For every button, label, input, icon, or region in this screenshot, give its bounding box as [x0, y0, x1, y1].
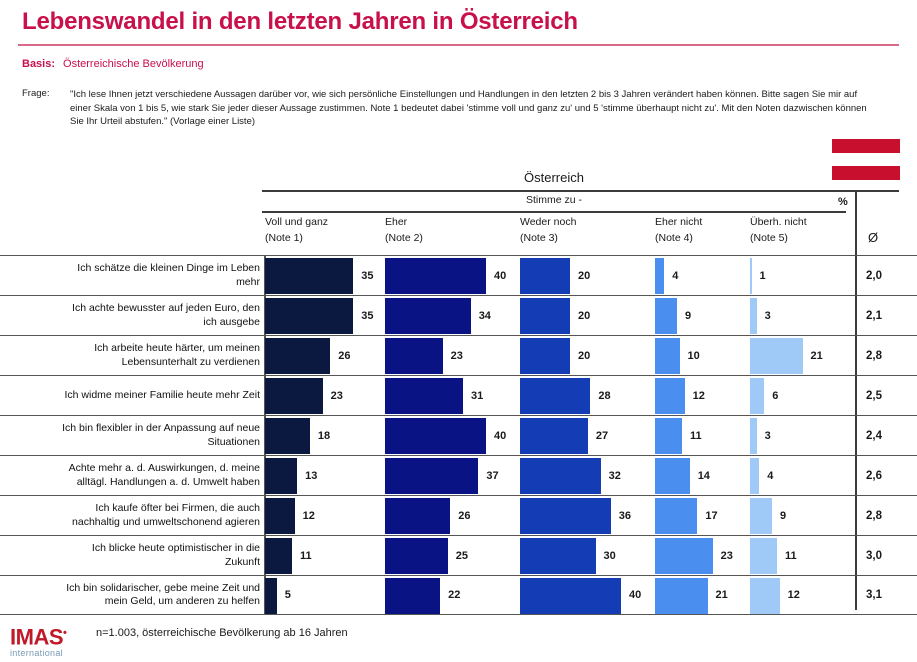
- bar-value-3: 36: [619, 510, 631, 522]
- bar-value-1: 35: [361, 270, 373, 282]
- bar-value-2: 26: [458, 510, 470, 522]
- imas-logo-sub: international: [10, 648, 66, 658]
- bar-segment-3: [520, 458, 602, 494]
- row-label-line: mehr: [236, 276, 260, 290]
- average-value: 2,0: [866, 270, 882, 282]
- bar-value-4: 4: [672, 270, 678, 282]
- bar-segment-2: [385, 338, 444, 374]
- bar-segment-3: [520, 338, 571, 374]
- average-value: 2,1: [866, 310, 882, 322]
- column-header-name: Überh. nicht: [750, 216, 807, 228]
- bar-value-3: 28: [598, 390, 610, 402]
- bar-value-4: 12: [693, 390, 705, 402]
- country-label: Österreich: [262, 170, 846, 185]
- bar-value-5: 4: [767, 470, 773, 482]
- bar-value-1: 11: [300, 550, 312, 562]
- header-rule-mid: [262, 211, 846, 213]
- average-value: 2,4: [866, 430, 882, 442]
- row-label-line: nachhaltig und umweltschonend agieren: [72, 516, 260, 530]
- chart-row: Ich achte bewusster auf jeden Euro, deni…: [0, 295, 917, 335]
- row-label: Ich blicke heute optimistischer in dieZu…: [18, 536, 264, 575]
- average-value: 3,0: [866, 550, 882, 562]
- bar-value-5: 1: [760, 270, 766, 282]
- row-label-line: mein Geld, um anderen zu helfen: [105, 595, 260, 609]
- bar-value-5: 3: [765, 430, 771, 442]
- bar-segment-1: [265, 258, 354, 294]
- chart-row: Ich schätze die kleinen Dinge im Lebenme…: [0, 255, 917, 295]
- bar-value-2: 40: [494, 270, 506, 282]
- title-divider: [18, 44, 899, 46]
- row-label-line: Ich arbeite heute härter, um meinen: [94, 342, 260, 356]
- scale-label: Stimme zu -: [262, 194, 846, 206]
- bar-segment-1: [265, 578, 278, 614]
- average-value: 3,1: [866, 589, 882, 601]
- row-label-line: Achte mehr a. d. Auswirkungen, d. meine: [69, 462, 260, 476]
- bar-segment-1: [265, 338, 331, 374]
- bar-value-4: 17: [705, 510, 717, 522]
- bar-value-3: 30: [604, 550, 616, 562]
- row-label-line: alltägl. Handlungen a. d. Umwelt haben: [77, 476, 260, 490]
- basis-row: Basis:Österreichische Bevölkerung: [22, 58, 204, 70]
- row-label: Ich arbeite heute härter, um meinenLeben…: [18, 336, 264, 375]
- bar-value-4: 23: [721, 550, 733, 562]
- bar-segment-1: [265, 298, 354, 334]
- column-header-note: (Note 4): [655, 230, 702, 246]
- bar-value-5: 21: [811, 350, 823, 362]
- row-label: Achte mehr a. d. Auswirkungen, d. meinea…: [18, 456, 264, 495]
- column-header-1: Voll und ganz(Note 1): [265, 214, 328, 246]
- bar-value-4: 21: [716, 589, 728, 601]
- column-header-note: (Note 1): [265, 230, 328, 246]
- header-rule-top: [262, 190, 899, 192]
- bar-segment-4: [655, 338, 681, 374]
- bar-segment-5: [750, 498, 773, 534]
- bar-segment-5: [750, 578, 781, 614]
- bar-value-1: 12: [303, 510, 315, 522]
- bar-value-5: 9: [780, 510, 786, 522]
- row-label: Ich kaufe öfter bei Firmen, die auchnach…: [18, 496, 264, 535]
- bar-segment-3: [520, 498, 612, 534]
- slide-canvas: Lebenswandel in den letzten Jahren in Ös…: [0, 0, 917, 662]
- bar-segment-4: [655, 298, 678, 334]
- bar-segment-3: [520, 378, 591, 414]
- chart-row: Achte mehr a. d. Auswirkungen, d. meinea…: [0, 455, 917, 495]
- bar-segment-5: [750, 378, 765, 414]
- question-label: Frage:: [22, 88, 49, 99]
- bar-segment-2: [385, 298, 472, 334]
- bar-segment-2: [385, 498, 451, 534]
- bar-value-3: 20: [578, 350, 590, 362]
- row-label: Ich widme meiner Familie heute mehr Zeit: [18, 376, 264, 415]
- bar-segment-5: [750, 338, 804, 374]
- bar-segment-4: [655, 578, 709, 614]
- column-header-name: Eher: [385, 216, 407, 228]
- column-header-3: Weder noch(Note 3): [520, 214, 576, 246]
- bar-segment-4: [655, 498, 698, 534]
- bar-segment-5: [750, 258, 753, 294]
- bar-segment-1: [265, 498, 296, 534]
- sample-note: n=1.003, österreichische Bevölkerung ab …: [96, 627, 348, 639]
- bar-segment-2: [385, 258, 487, 294]
- bar-segment-4: [655, 538, 714, 574]
- imas-logo-text: IMAS•: [10, 622, 66, 648]
- row-label: Ich bin solidarischer, gebe meine Zeit u…: [18, 576, 264, 614]
- bar-value-5: 3: [765, 310, 771, 322]
- column-header-5: Überh. nicht(Note 5): [750, 214, 807, 246]
- row-label-line: Ich bin flexibler in der Anpassung auf n…: [62, 422, 260, 436]
- bar-segment-4: [655, 378, 686, 414]
- column-header-note: (Note 5): [750, 230, 807, 246]
- bar-segment-4: [655, 418, 683, 454]
- chart-row: Ich bin flexibler in der Anpassung auf n…: [0, 415, 917, 455]
- bar-segment-2: [385, 378, 464, 414]
- column-header-note: (Note 3): [520, 230, 576, 246]
- bar-segment-5: [750, 298, 758, 334]
- bar-value-1: 35: [361, 310, 373, 322]
- bar-segment-2: [385, 418, 487, 454]
- column-header-note: (Note 2): [385, 230, 423, 246]
- bar-segment-3: [520, 298, 571, 334]
- bar-value-4: 9: [685, 310, 691, 322]
- bar-value-4: 11: [690, 430, 702, 442]
- bar-segment-3: [520, 538, 597, 574]
- bar-value-2: 25: [456, 550, 468, 562]
- bar-value-1: 13: [305, 470, 317, 482]
- bar-value-2: 31: [471, 390, 483, 402]
- bar-value-2: 23: [451, 350, 463, 362]
- bar-value-3: 40: [629, 589, 641, 601]
- bar-value-2: 37: [486, 470, 498, 482]
- average-value: 2,6: [866, 470, 882, 482]
- chart-row: Ich arbeite heute härter, um meinenLeben…: [0, 335, 917, 375]
- bar-segment-5: [750, 538, 778, 574]
- bar-segment-5: [750, 458, 760, 494]
- chart-row: Ich blicke heute optimistischer in dieZu…: [0, 535, 917, 575]
- bar-value-3: 27: [596, 430, 608, 442]
- column-header-name: Weder noch: [520, 216, 576, 228]
- basis-value: Österreichische Bevölkerung: [63, 58, 204, 70]
- percent-sign: %: [838, 196, 848, 208]
- bar-value-1: 5: [285, 589, 291, 601]
- row-label-line: Ich achte bewusster auf jeden Euro, den: [72, 302, 260, 316]
- row-label: Ich achte bewusster auf jeden Euro, deni…: [18, 296, 264, 335]
- bar-segment-1: [265, 378, 324, 414]
- bar-value-2: 40: [494, 430, 506, 442]
- row-label-line: Ich widme meiner Familie heute mehr Zeit: [65, 389, 261, 403]
- row-label-line: ich ausgebe: [203, 316, 260, 330]
- row-label-line: Ich kaufe öfter bei Firmen, die auch: [95, 502, 260, 516]
- bar-segment-4: [655, 258, 665, 294]
- row-label-line: Ich bin solidarischer, gebe meine Zeit u…: [66, 582, 260, 596]
- bar-segment-1: [265, 458, 298, 494]
- bar-value-5: 12: [788, 589, 800, 601]
- row-label: Ich bin flexibler in der Anpassung auf n…: [18, 416, 264, 455]
- bar-value-3: 20: [578, 310, 590, 322]
- row-label-line: Zukunft: [225, 556, 260, 570]
- column-header-name: Eher nicht: [655, 216, 702, 228]
- bar-segment-2: [385, 538, 449, 574]
- bar-segment-1: [265, 418, 311, 454]
- bar-segment-2: [385, 458, 479, 494]
- column-header-4: Eher nicht(Note 4): [655, 214, 702, 246]
- basis-label: Basis:: [22, 58, 55, 70]
- row-label-line: Ich schätze die kleinen Dinge im Leben: [77, 262, 260, 276]
- bar-value-2: 34: [479, 310, 491, 322]
- bar-value-1: 26: [338, 350, 350, 362]
- bar-value-4: 14: [698, 470, 710, 482]
- column-header-2: Eher(Note 2): [385, 214, 423, 246]
- chart-row: Ich widme meiner Familie heute mehr Zeit…: [0, 375, 917, 415]
- bar-segment-3: [520, 418, 589, 454]
- chart-rows: Ich schätze die kleinen Dinge im Lebenme…: [0, 255, 917, 615]
- imas-logo: IMAS• international: [10, 622, 66, 658]
- bar-value-1: 23: [331, 390, 343, 402]
- bar-value-4: 10: [688, 350, 700, 362]
- question-text: "Ich lese Ihnen jetzt verschiedene Aussa…: [70, 88, 880, 129]
- average-value: 2,8: [866, 510, 882, 522]
- average-value: 2,8: [866, 350, 882, 362]
- bar-value-5: 6: [772, 390, 778, 402]
- bar-value-1: 18: [318, 430, 330, 442]
- bar-segment-4: [655, 458, 691, 494]
- average-value: 2,5: [866, 390, 882, 402]
- bar-value-3: 32: [609, 470, 621, 482]
- row-label-line: Lebensunterhalt zu verdienen: [122, 356, 260, 370]
- bar-segment-3: [520, 258, 571, 294]
- average-column-header: Ø: [868, 230, 878, 245]
- row-label: Ich schätze die kleinen Dinge im Lebenme…: [18, 256, 264, 295]
- bar-segment-1: [265, 538, 293, 574]
- bar-value-5: 11: [785, 550, 797, 562]
- chart-row: Ich kaufe öfter bei Firmen, die auchnach…: [0, 495, 917, 535]
- chart-row: Ich bin solidarischer, gebe meine Zeit u…: [0, 575, 917, 615]
- bar-value-2: 22: [448, 589, 460, 601]
- row-label-line: Situationen: [207, 436, 260, 450]
- bar-segment-5: [750, 418, 758, 454]
- bar-segment-2: [385, 578, 441, 614]
- row-label-line: Ich blicke heute optimistischer in die: [92, 542, 260, 556]
- bar-value-3: 20: [578, 270, 590, 282]
- bar-segment-3: [520, 578, 622, 614]
- page-title: Lebenswandel in den letzten Jahren in Ös…: [22, 8, 578, 36]
- column-header-name: Voll und ganz: [265, 216, 328, 228]
